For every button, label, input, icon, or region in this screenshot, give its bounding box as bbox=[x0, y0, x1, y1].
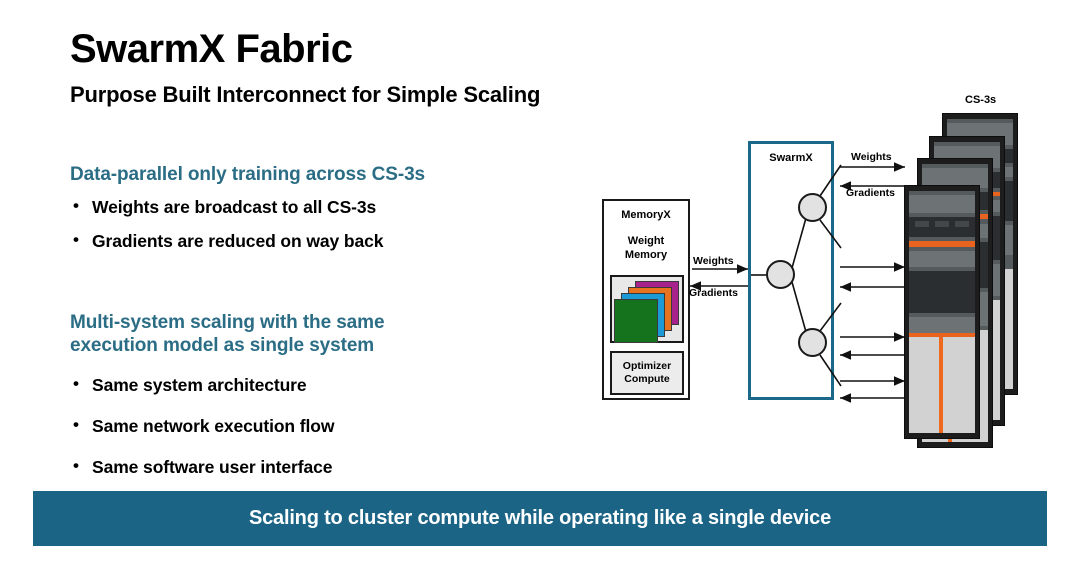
arrow-label-gradients-right: Gradients bbox=[846, 187, 895, 199]
cs3s-label: CS-3s bbox=[965, 94, 996, 106]
arrow-label-weights-left: Weights bbox=[693, 255, 734, 267]
swarmx-node-lower bbox=[798, 328, 827, 357]
footer-banner: Scaling to cluster compute while operati… bbox=[33, 491, 1047, 546]
cs3-rack bbox=[904, 185, 980, 439]
arrow-label-weights-right: Weights bbox=[851, 151, 892, 163]
swarmx-node-root bbox=[766, 260, 795, 289]
swarmx-node-upper bbox=[798, 193, 827, 222]
footer-banner-text: Scaling to cluster compute while operati… bbox=[249, 507, 831, 530]
arrow-label-gradients-left: Gradients bbox=[689, 287, 738, 299]
architecture-diagram: MemoryX WeightMemory OptimizerCompute Sw… bbox=[0, 0, 1080, 490]
